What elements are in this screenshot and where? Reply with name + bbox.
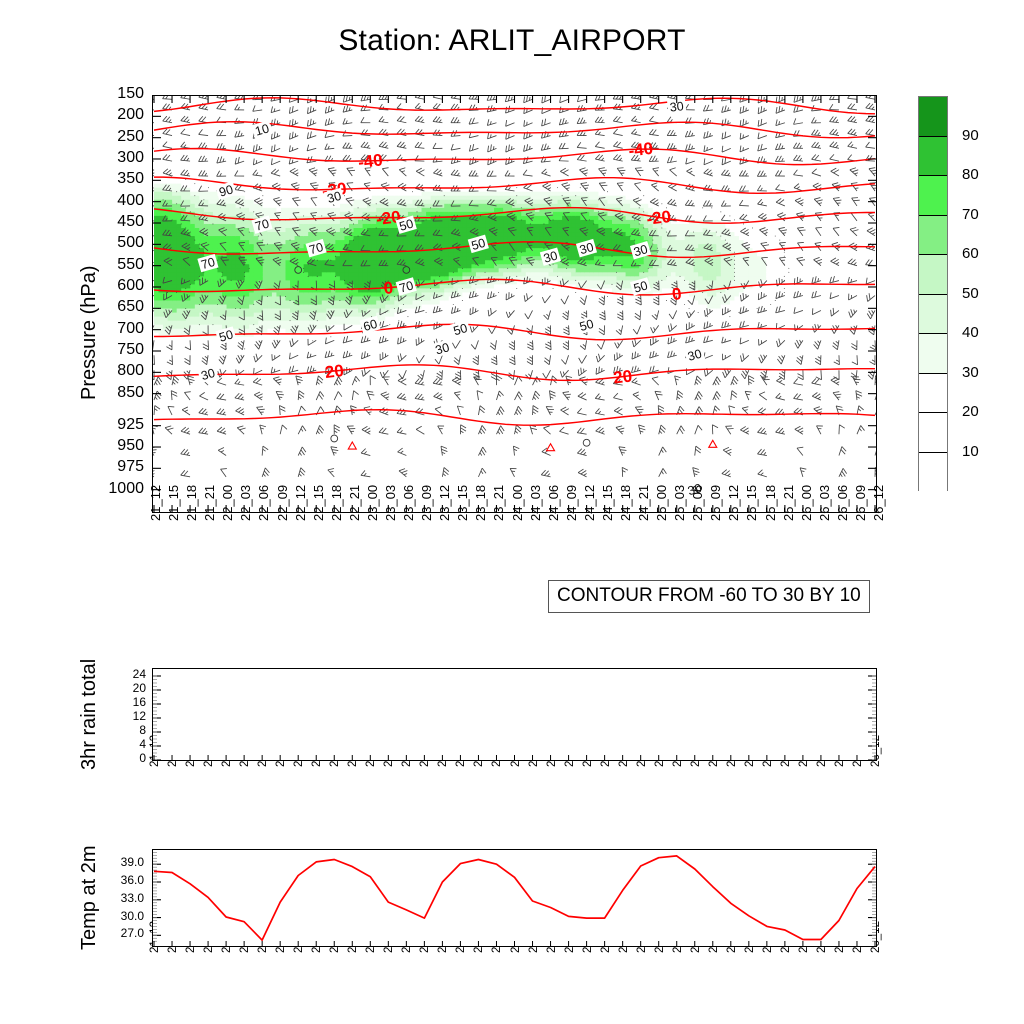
pressure-tick-1000: 1000 [84, 480, 144, 498]
contour-caption: CONTOUR FROM -60 TO 30 BY 10 [548, 580, 870, 613]
pressure-tick-150: 150 [84, 85, 144, 103]
colorbar-swatch-1 [919, 137, 947, 177]
colorbar-swatch-5 [919, 295, 947, 335]
colorbar-label-30: 30 [962, 364, 979, 381]
temp-tick-27.0: 27.0 [88, 926, 144, 940]
pressure-tick-600: 600 [84, 277, 144, 295]
rain-tick-4: 4 [90, 737, 146, 751]
page-title: Station: ARLIT_AIRPORT [0, 24, 1024, 58]
colorbar-label-40: 40 [962, 324, 979, 341]
pressure-tick-750: 750 [84, 341, 144, 359]
colorbar-swatch-8 [919, 413, 947, 453]
temp-tick-33.0: 33.0 [88, 891, 144, 905]
colorbar-swatch-9 [919, 453, 947, 493]
colorbar-label-80: 80 [962, 166, 979, 183]
colorbar-swatch-3 [919, 216, 947, 256]
temp-panel [152, 849, 877, 947]
temp-panel-title: Temp at 2m [78, 846, 101, 950]
sounding-cross-section-panel: -40-40-30-20-200020201030507090707070505… [152, 95, 877, 513]
temp-tick-36.0: 36.0 [88, 873, 144, 887]
rain-tick-20: 20 [90, 681, 146, 695]
colorbar-swatch-2 [919, 176, 947, 216]
sounding-svg: -40-40-30-20-200020201030507090707070505… [153, 96, 876, 512]
pressure-tick-300: 300 [84, 149, 144, 167]
pressure-tick-500: 500 [84, 234, 144, 252]
rain-tick-12: 12 [90, 709, 146, 723]
pressure-tick-650: 650 [84, 298, 144, 316]
rain-panel-title: 3hr rain total [78, 659, 101, 770]
colorbar-swatch-7 [919, 374, 947, 414]
pressure-tick-550: 550 [84, 256, 144, 274]
temp-tick-39.0: 39.0 [88, 855, 144, 869]
pressure-tick-850: 850 [84, 384, 144, 402]
rain-tick-24: 24 [90, 667, 146, 681]
pressure-tick-975: 975 [84, 458, 144, 476]
temp-tick-30.0: 30.0 [88, 909, 144, 923]
pressure-tick-250: 250 [84, 128, 144, 146]
colorbar-label-10: 10 [962, 443, 979, 460]
pressure-tick-450: 450 [84, 213, 144, 231]
pressure-tick-400: 400 [84, 192, 144, 210]
colorbar-label-60: 60 [962, 245, 979, 262]
pressure-tick-350: 350 [84, 170, 144, 188]
colorbar-label-20: 20 [962, 403, 979, 420]
pressure-tick-950: 950 [84, 437, 144, 455]
pressure-axis-title: Pressure (hPa) [78, 266, 101, 401]
rain-svg [153, 669, 876, 760]
pressure-tick-700: 700 [84, 320, 144, 338]
pressure-tick-200: 200 [84, 106, 144, 124]
pressure-tick-800: 800 [84, 362, 144, 380]
colorbar-label-70: 70 [962, 206, 979, 223]
colorbar-swatch-0 [919, 97, 947, 137]
pressure-tick-925: 925 [84, 416, 144, 434]
rain-tick-16: 16 [90, 695, 146, 709]
colorbar-label-90: 90 [962, 127, 979, 144]
colorbar-swatch-4 [919, 255, 947, 295]
rain-tick-0: 0 [90, 751, 146, 765]
rain-tick-8: 8 [90, 723, 146, 737]
rain-panel [152, 668, 877, 761]
temp-svg [153, 850, 876, 946]
colorbar-label-50: 50 [962, 285, 979, 302]
humidity-colorbar [918, 96, 948, 491]
colorbar-swatch-6 [919, 334, 947, 374]
